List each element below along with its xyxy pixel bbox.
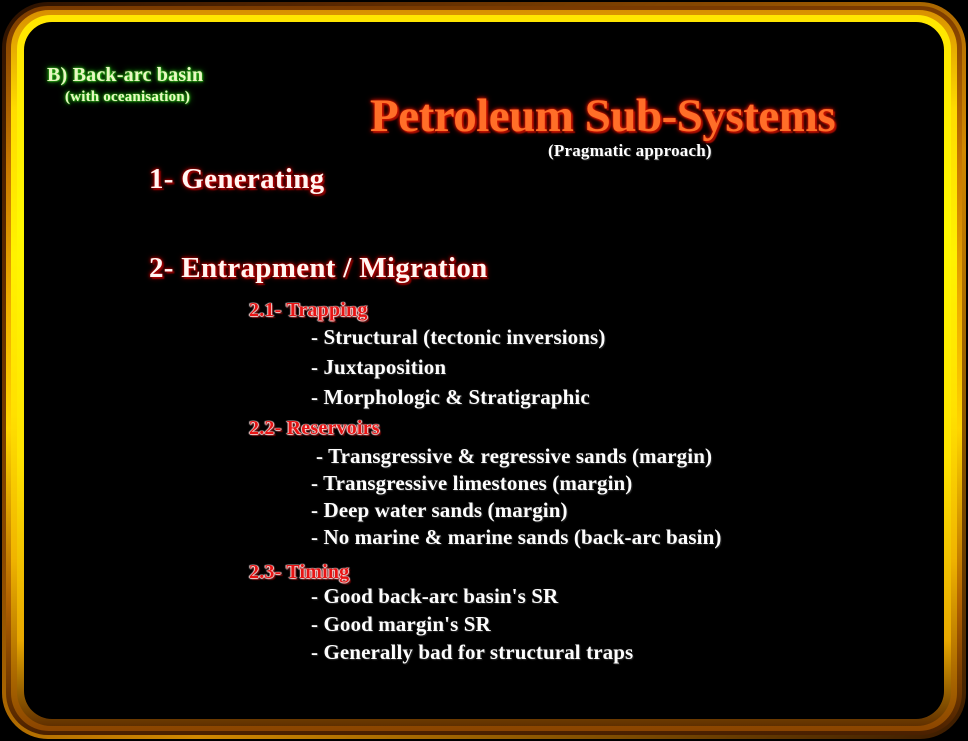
list-item: - No marine & marine sands (back-arc bas…: [311, 525, 722, 550]
list-item: - Good back-arc basin's SR: [311, 584, 558, 609]
corner-label-line1: B) Back-arc basin: [47, 63, 377, 87]
corner-label-line2: (with oceanisation): [65, 87, 377, 107]
list-item: - Juxtaposition: [311, 355, 446, 380]
subsection-heading-timing: 2.3- Timing: [249, 561, 349, 584]
list-item: - Generally bad for structural traps: [311, 640, 633, 665]
slide-content: B) Back-arc basin (with oceanisation) Pe…: [0, 0, 968, 741]
page-subtitle: (Pragmatic approach): [548, 141, 712, 161]
list-item: - Structural (tectonic inversions): [311, 325, 605, 350]
page-title: Petroleum Sub-Systems: [370, 89, 930, 143]
list-item: - Good margin's SR: [311, 612, 491, 637]
subsection-heading-reservoirs: 2.2- Reservoirs: [249, 417, 380, 440]
list-item: - Transgressive & regressive sands (marg…: [316, 444, 712, 469]
subsection-heading-trapping: 2.1- Trapping: [249, 299, 368, 322]
list-item: - Deep water sands (margin): [311, 498, 568, 523]
corner-label: B) Back-arc basin (with oceanisation): [47, 63, 377, 107]
list-item: - Transgressive limestones (margin): [311, 471, 632, 496]
section-heading-generating: 1- Generating: [149, 163, 324, 196]
section-heading-entrapment: 2- Entrapment / Migration: [149, 252, 488, 285]
list-item: - Morphologic & Stratigraphic: [311, 385, 590, 410]
presentation-slide: B) Back-arc basin (with oceanisation) Pe…: [0, 0, 968, 741]
